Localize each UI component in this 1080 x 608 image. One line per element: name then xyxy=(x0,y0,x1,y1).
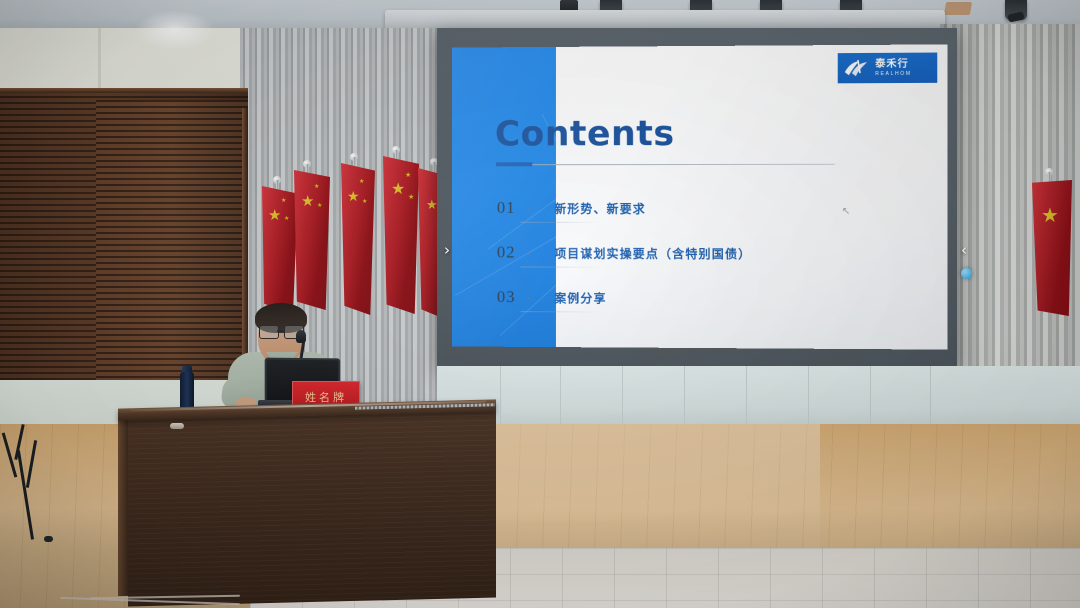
china-flag: ★ ★ ★ xyxy=(341,163,375,315)
flag-shading xyxy=(383,156,419,314)
toc-item-number: 01 xyxy=(497,198,516,218)
toc-item-separator: · xyxy=(526,246,530,261)
wainscot-seam xyxy=(808,366,809,426)
toc-item[interactable]: 03 · 案例分享 xyxy=(497,287,607,307)
wall-glare xyxy=(135,10,215,50)
carousel-indicator-dot[interactable] xyxy=(961,268,972,279)
mic-stand-foot xyxy=(44,536,53,542)
track-light xyxy=(1005,0,1027,20)
slide-heading: Contents xyxy=(495,114,675,154)
china-flag: ★ ★ ★ xyxy=(294,170,330,310)
yh-monogram-icon xyxy=(844,59,870,77)
wainscot-seam xyxy=(560,366,561,426)
flag-shading xyxy=(294,170,330,310)
logo-english-name: REALHOM xyxy=(875,71,912,76)
company-logo: 泰禾行 REALHOM xyxy=(838,53,938,84)
wainscot-seam xyxy=(684,366,685,426)
toc-item[interactable]: 02 · 项目谋划实操要点（含特别国债） xyxy=(497,243,752,264)
wainscot-seam xyxy=(500,366,501,426)
toc-item-number: 02 xyxy=(497,243,516,263)
toc-item-text: 案例分享 xyxy=(554,289,606,306)
photo-canvas: ★ ★ ★ ★ ★ ★ ★ ★ ★ ★ ★ ★ ★ ★ xyxy=(0,0,1080,608)
wainscot-seam xyxy=(746,366,747,426)
toc-item-underline xyxy=(520,222,601,223)
slat-wall-top-edge xyxy=(0,88,248,93)
toc-item-text: 新形势、新要求 xyxy=(554,200,646,217)
glasses-bridge xyxy=(277,330,284,332)
china-flag: ★ ★ ★ xyxy=(383,156,419,314)
flag-shading xyxy=(1032,180,1072,316)
presentation-slide: REALHOM 泰禾行 REALHOM Contents xyxy=(452,44,948,349)
toc-item-text: 项目谋划实操要点（含特别国债） xyxy=(554,245,751,262)
flag-shading xyxy=(262,186,298,314)
wainscot-seam xyxy=(622,366,623,426)
flag-shading xyxy=(341,163,375,315)
wainscot-seam xyxy=(870,366,871,426)
warm-ceiling-light xyxy=(944,2,972,15)
china-flag: ★ ★ ★ xyxy=(262,186,298,314)
podium-badge xyxy=(170,423,184,429)
next-image-arrow[interactable]: ‹ xyxy=(961,241,967,259)
toc-item-number: 03 xyxy=(497,287,516,307)
slide-art-line xyxy=(488,143,556,249)
toc-item-separator: · xyxy=(526,201,530,216)
wainscot-seam xyxy=(930,366,931,426)
projection-screen[interactable]: REALHOM 泰禾行 REALHOM Contents xyxy=(452,44,948,349)
nameplate-text: 姓名牌 xyxy=(305,389,347,405)
toc-item-separator: · xyxy=(526,290,530,305)
mouse-cursor-icon: ↖ xyxy=(842,206,848,215)
prev-image-arrow[interactable]: › xyxy=(444,241,450,259)
stage-wainscot xyxy=(437,366,1080,426)
glasses-lens-left xyxy=(259,325,279,339)
toc-item[interactable]: 01 · 新形势、新要求 xyxy=(497,198,646,218)
heading-rule-accent xyxy=(496,162,532,166)
party-flag: ★ xyxy=(1032,180,1072,316)
logo-chinese-name: 泰禾行 xyxy=(875,59,912,69)
water-bottle xyxy=(180,372,194,410)
podium-front-panel xyxy=(128,410,496,607)
microphone-head-icon xyxy=(296,330,306,343)
